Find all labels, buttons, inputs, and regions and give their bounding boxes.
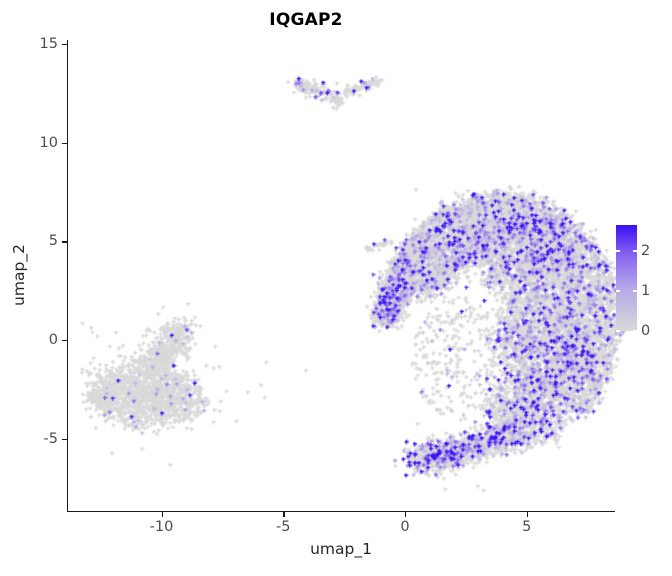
x-tick--5	[283, 512, 284, 517]
colorbar-legend	[616, 225, 637, 331]
y-tick-10	[62, 143, 67, 144]
scatter-plot-figure: IQGAP2 -5051015 -10-505 umap_1 umap_2 01…	[0, 0, 672, 576]
x-tick--10	[162, 512, 163, 517]
y-tick--5	[62, 439, 67, 440]
y-tick-15	[62, 44, 67, 45]
colorbar-tick-0	[633, 330, 637, 332]
y-axis-line	[67, 40, 68, 512]
y-tick-label-5: 5	[49, 233, 58, 249]
colorbar-label-2: 2	[641, 243, 650, 259]
colorbar-tick-1	[616, 290, 620, 292]
colorbar-tick-2	[616, 250, 620, 252]
scatter-points-canvas	[0, 0, 672, 576]
y-tick-label-0: 0	[49, 332, 58, 348]
x-axis-title: umap_1	[67, 540, 615, 558]
colorbar-gradient	[616, 225, 637, 331]
colorbar-label-0: 0	[641, 323, 650, 339]
y-tick-label-10: 10	[40, 135, 58, 151]
x-tick-label--10: -10	[150, 519, 174, 535]
y-tick-0	[62, 340, 67, 341]
colorbar-tick-0	[616, 330, 620, 332]
y-tick-label-15: 15	[40, 36, 58, 52]
x-tick-label-5: 5	[522, 519, 531, 535]
x-tick-label--5: -5	[276, 519, 290, 535]
x-tick-label-0: 0	[400, 519, 409, 535]
y-tick-5	[62, 241, 67, 242]
x-tick-0	[405, 512, 406, 517]
y-tick-label--5: -5	[44, 431, 58, 447]
x-axis-line	[67, 511, 615, 512]
colorbar-tick-1	[633, 290, 637, 292]
colorbar-tick-2	[633, 250, 637, 252]
x-tick-5	[527, 512, 528, 517]
y-axis-title: umap_2	[10, 225, 28, 325]
colorbar-label-1: 1	[641, 283, 650, 299]
